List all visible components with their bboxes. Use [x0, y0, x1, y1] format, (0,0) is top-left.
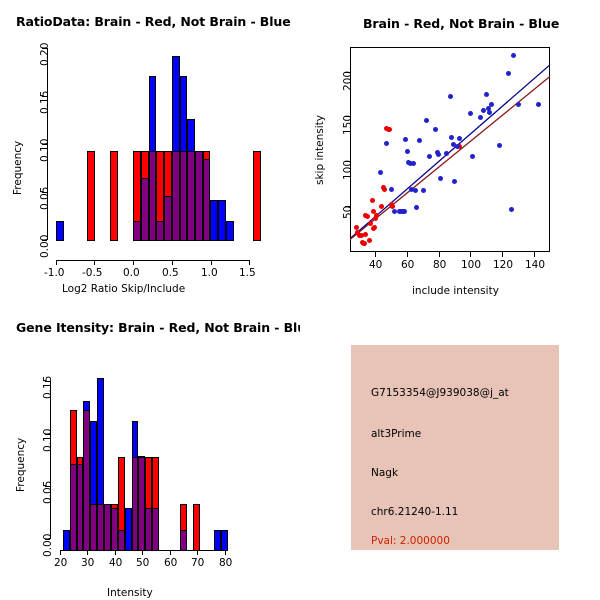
scatter-x-tick-label: 120	[493, 259, 513, 271]
gene-x-tick-label: 50	[136, 557, 149, 569]
histogram-bar-overlap	[145, 508, 152, 551]
histogram-bar	[214, 530, 221, 551]
histogram-bar	[221, 530, 228, 551]
histogram-bar-overlap	[172, 151, 180, 241]
scatter-point	[470, 154, 475, 159]
gene-x-tick-label: 70	[191, 557, 204, 569]
histogram-bar-overlap	[152, 508, 159, 551]
ratio-x-tick-label: -0.5	[82, 267, 103, 279]
histogram-bar-overlap	[141, 178, 149, 241]
probe-id-text: G7153354@J939038@j_at	[371, 387, 509, 399]
ratio-x-tick-label: -1.0	[44, 267, 65, 279]
gene-histogram-bars	[0, 300, 300, 551]
scatter-point	[389, 187, 394, 192]
gene-x-tick-label: 30	[81, 557, 94, 569]
ratio-x-tick-label: 0.0	[123, 267, 140, 279]
histogram-bar	[63, 530, 70, 551]
histogram-bar	[193, 504, 200, 551]
scatter-x-tick	[407, 252, 408, 257]
event-type-text: alt3Prime	[371, 428, 421, 440]
scatter-point	[362, 241, 367, 246]
scatter-x-tick-label: 40	[369, 259, 382, 271]
scatter-point	[449, 135, 454, 140]
scatter-x-tick-label: 100	[461, 259, 481, 271]
histogram-bar	[210, 200, 218, 241]
scatter-x-tick	[439, 252, 440, 257]
gene-x-tick-label: 40	[109, 557, 122, 569]
ratio-histogram-x-axis	[56, 260, 250, 261]
histogram-bar-overlap	[203, 159, 211, 241]
scatter-point	[448, 94, 453, 99]
scatter-point	[370, 198, 375, 203]
ratio-x-tick	[172, 260, 173, 265]
scatter-points-layer	[350, 47, 550, 252]
scatter-point	[484, 92, 489, 97]
histogram-bar-overlap	[77, 464, 84, 551]
scatter-point	[487, 110, 492, 115]
histogram-bar-overlap	[195, 151, 203, 241]
histogram-bar-overlap	[180, 530, 187, 551]
scatter-point	[427, 154, 432, 159]
scatter-point	[421, 188, 426, 193]
histogram-bar	[87, 151, 95, 241]
ratio-x-tick-label: 1.5	[239, 267, 256, 279]
scatter-point	[489, 102, 494, 107]
scatter-panel: Brain - Red, Not Brain - Blue skip inten…	[300, 0, 600, 300]
histogram-bar-overlap	[132, 457, 139, 551]
scatter-point	[367, 238, 372, 243]
histogram-bar-overlap	[180, 151, 188, 241]
scatter-point	[413, 188, 418, 193]
scatter-xlabel: include intensity	[412, 285, 499, 297]
scatter-point	[390, 204, 395, 209]
histogram-bar-overlap	[97, 504, 104, 551]
scatter-point	[372, 225, 377, 230]
scatter-point	[424, 118, 429, 123]
histogram-bar	[218, 200, 226, 241]
scatter-point	[478, 115, 483, 120]
ratio-histogram-bars	[0, 0, 300, 241]
ratio-x-tick	[94, 260, 95, 265]
ratio-x-tick	[249, 260, 250, 265]
histogram-bar-overlap	[149, 151, 157, 241]
scatter-ylabel: skip intensity	[314, 115, 326, 185]
ratio-histogram-panel: RatioData: Brain - Red, Not Brain - Blue…	[0, 0, 300, 300]
histogram-bar	[226, 221, 234, 241]
ratio-histogram-xlabel: Log2 Ratio Skip/Include	[62, 283, 185, 295]
histogram-bar-overlap	[133, 221, 141, 241]
histogram-bar	[56, 221, 64, 241]
scatter-point	[365, 214, 370, 219]
scatter-x-tick-label: 60	[401, 259, 414, 271]
gene-histogram-xlabel: Intensity	[107, 587, 153, 599]
histogram-bar-overlap	[138, 457, 145, 551]
histogram-bar-overlap	[111, 508, 118, 551]
ratio-x-tick	[56, 260, 57, 265]
histogram-bar	[125, 508, 132, 551]
gene-x-tick-label: 20	[54, 557, 67, 569]
histogram-bar-overlap	[70, 464, 77, 551]
scatter-point	[378, 170, 383, 175]
scatter-fit-lines	[350, 47, 550, 252]
fit-line-red-fit	[350, 76, 550, 239]
probe-info-panel: G7153354@J939038@j_at alt3Prime Nagk chr…	[351, 345, 559, 550]
histogram-bar	[253, 151, 261, 241]
scatter-x-tick-label: 80	[433, 259, 446, 271]
histogram-bar-overlap	[83, 410, 90, 551]
gene-x-tick-label: 80	[219, 557, 232, 569]
locus-text: chr6.21240-1.11	[371, 506, 458, 518]
scatter-point	[384, 141, 389, 146]
ratio-x-tick-label: 1.0	[201, 267, 218, 279]
scatter-point	[405, 149, 410, 154]
fit-line-blue-fit	[350, 65, 550, 239]
scatter-x-tick	[375, 252, 376, 257]
gene-x-tick-label: 60	[164, 557, 177, 569]
histogram-bar-overlap	[164, 196, 172, 241]
histogram-bar-overlap	[156, 221, 164, 241]
scatter-point	[444, 151, 449, 156]
histogram-bar-overlap	[187, 151, 195, 241]
scatter-x-tick	[502, 252, 503, 257]
gene-intensity-histogram-panel: Gene Itensity: Brain - Red, Not Brain - …	[0, 300, 300, 600]
ratio-x-tick	[133, 260, 134, 265]
scatter-x-tick-label: 140	[525, 259, 545, 271]
pval-text: Pval: 2.000000	[371, 535, 450, 547]
histogram-bar	[110, 151, 118, 241]
ratio-x-tick	[211, 260, 212, 265]
scatter-point	[511, 53, 516, 58]
scatter-title: Brain - Red, Not Brain - Blue	[363, 16, 559, 31]
scatter-x-tick	[534, 252, 535, 257]
ratio-x-tick-label: 0.5	[162, 267, 179, 279]
histogram-bar-overlap	[90, 504, 97, 551]
gene-symbol-text: Nagk	[371, 467, 398, 479]
scatter-x-tick	[470, 252, 471, 257]
histogram-bar-overlap	[104, 504, 111, 551]
histogram-bar-overlap	[118, 530, 125, 551]
